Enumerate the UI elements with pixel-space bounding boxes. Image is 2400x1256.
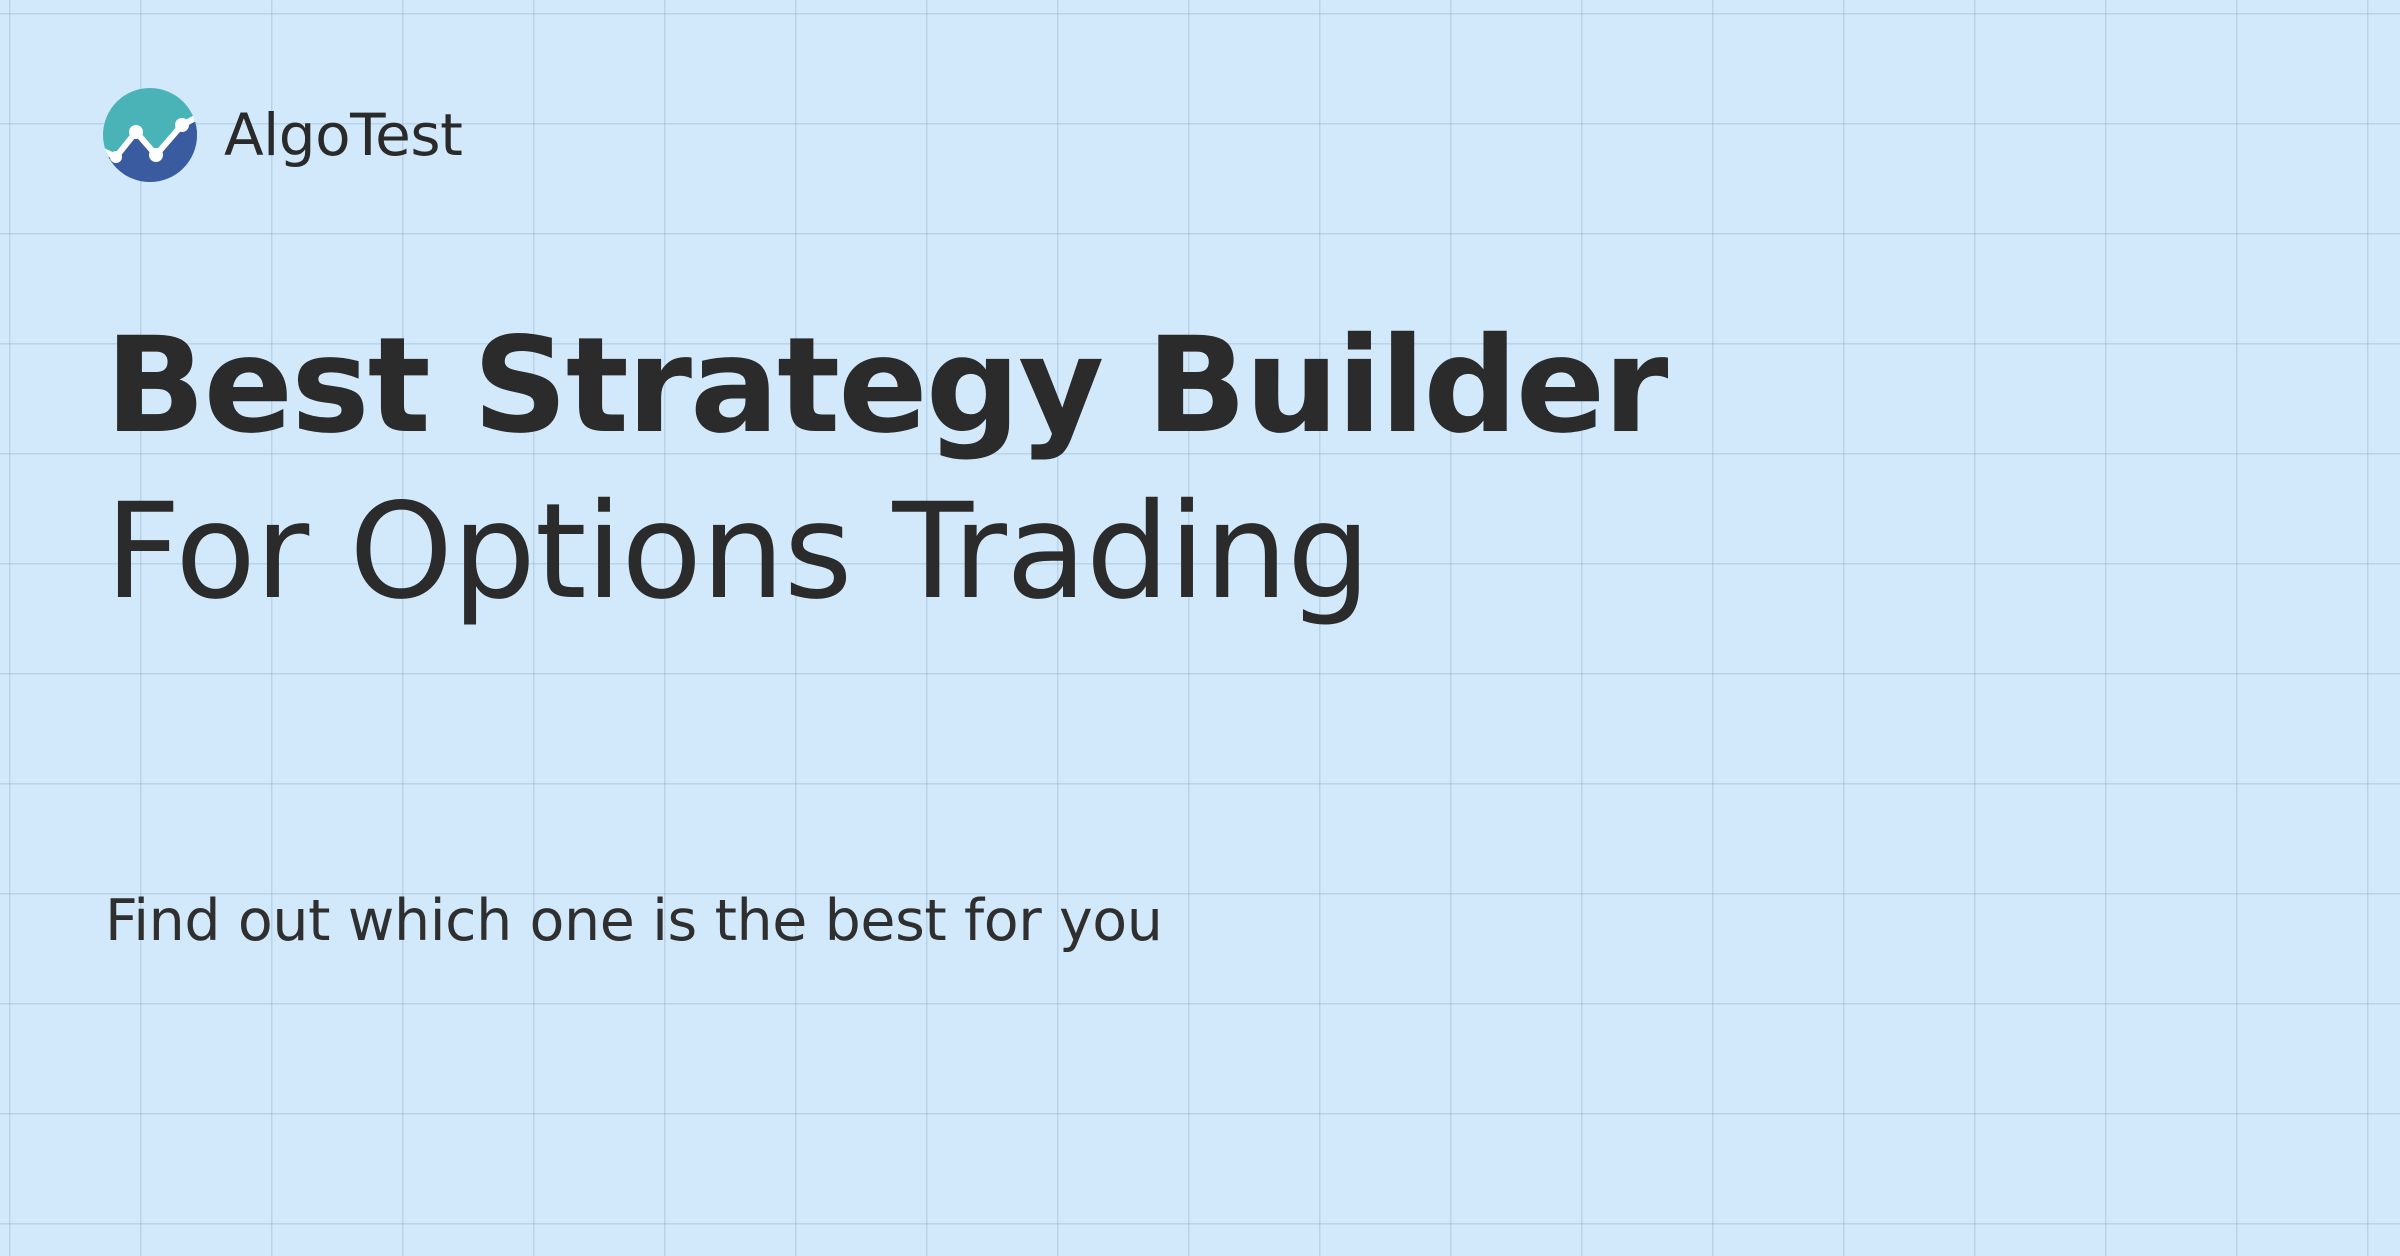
brand-name: AlgoTest <box>224 106 462 164</box>
hero-headline-line2: For Options Trading <box>105 486 2205 618</box>
hero-headline-line1: Best Strategy Builder <box>105 320 2205 452</box>
hero-subheadline: Find out which one is the best for you <box>105 890 1162 953</box>
hero-content: AlgoTest Best Strategy Builder For Optio… <box>0 0 2400 1256</box>
algotest-circle-chart-logo-icon <box>100 85 200 185</box>
brand-lockup[interactable]: AlgoTest <box>100 85 462 185</box>
hero-banner: AlgoTest Best Strategy Builder For Optio… <box>0 0 2400 1256</box>
hero-headline-block: Best Strategy Builder For Options Tradin… <box>105 320 2205 618</box>
